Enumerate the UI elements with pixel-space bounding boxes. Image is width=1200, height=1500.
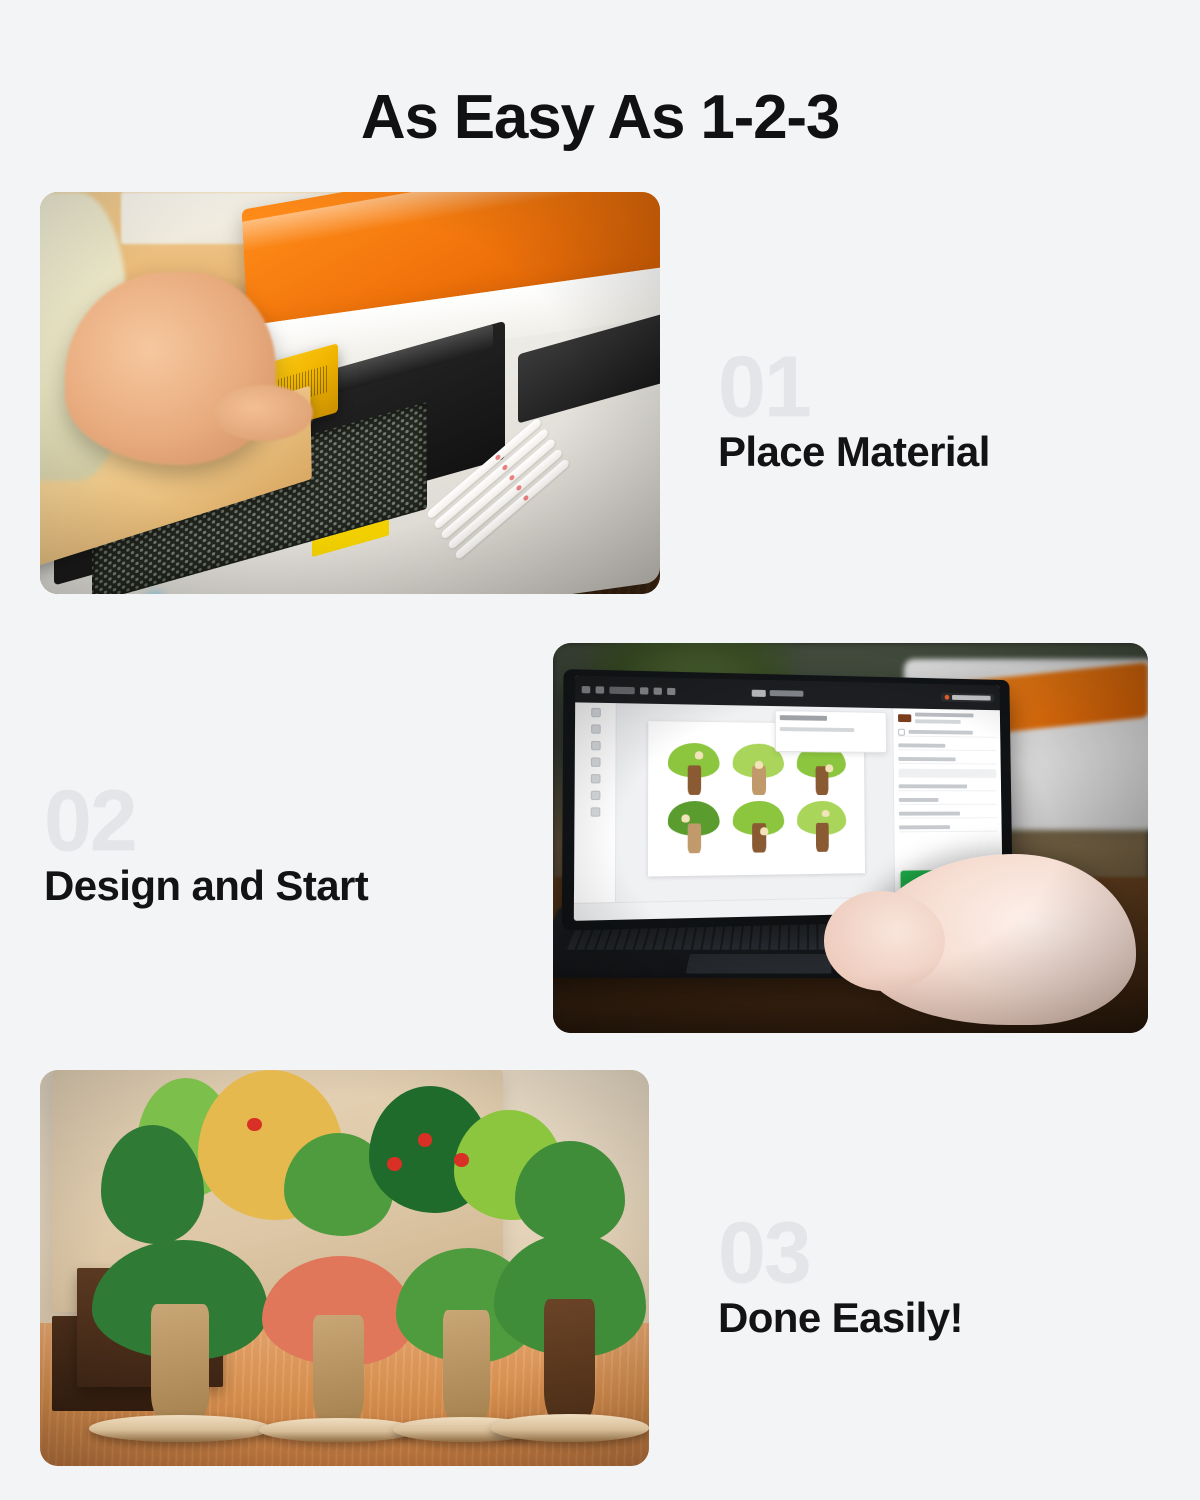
step-3-number: 03 xyxy=(718,1218,1158,1289)
step-1-label: Place Material xyxy=(718,429,1158,475)
figure-trunk xyxy=(544,1299,595,1423)
apple-detail xyxy=(418,1133,433,1146)
apple-detail xyxy=(247,1118,262,1131)
figure-base xyxy=(491,1414,649,1442)
apple-detail xyxy=(387,1157,402,1170)
step-3-label: Done Easily! xyxy=(718,1295,1158,1341)
figure-trunk xyxy=(151,1304,209,1423)
page-title: As Easy As 1-2-3 xyxy=(0,82,1200,153)
tree-figure-1 xyxy=(89,1236,272,1442)
tree-figure-4 xyxy=(491,1228,649,1442)
step-2-label: Design and Start xyxy=(44,863,484,909)
infographic-page: As Easy As 1-2-3 xyxy=(0,0,1200,1500)
figure-trunk xyxy=(443,1310,490,1425)
step-1-photo xyxy=(40,192,660,594)
figure-base xyxy=(89,1415,272,1442)
step-1-number: 01 xyxy=(718,352,1158,423)
step-2-number: 02 xyxy=(44,786,484,857)
photo-vignette xyxy=(553,643,1148,1033)
step-2-photo xyxy=(553,643,1148,1033)
step-3-text: 03 Done Easily! xyxy=(718,1218,1158,1341)
figure-trunk xyxy=(313,1315,364,1425)
apple-detail xyxy=(454,1153,469,1166)
photo-vignette xyxy=(40,192,660,594)
step-3-photo xyxy=(40,1070,649,1466)
step-1-text: 01 Place Material xyxy=(718,352,1158,475)
step-2-text: 02 Design and Start xyxy=(44,786,484,909)
